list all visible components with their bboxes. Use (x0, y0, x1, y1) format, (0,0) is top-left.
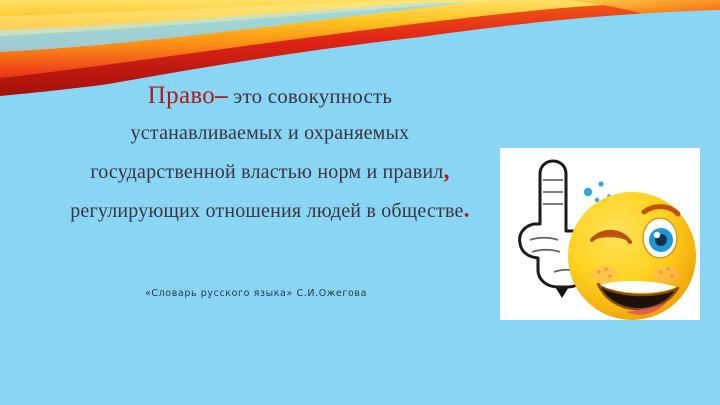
cheek-left (591, 266, 617, 282)
wave-sliver-light (0, 2, 470, 52)
definition-line-1-rest: это совокупность (233, 84, 392, 108)
smiley-clipart-svg (500, 148, 700, 320)
winking-smiley-pointing-finger-image (500, 148, 700, 320)
presentation-slide: Право– это совокупность устанавливаемых … (0, 0, 720, 405)
definition-line-4-period: . (464, 197, 470, 223)
cheek-right (653, 266, 679, 282)
wave-tail-right (560, 0, 720, 48)
definition-line-1: Право– это совокупность (0, 80, 540, 112)
open-eye-icon (643, 218, 677, 258)
definition-term: Право (148, 82, 215, 109)
definition-dash: – (215, 82, 228, 109)
definition-line-3-comma: , (443, 158, 449, 184)
wave-highlight-streak (0, 0, 500, 36)
definition-line-3-text: государственной властью норм и правил (90, 161, 443, 183)
definition-line-3: государственной властью норм и правил, (0, 156, 540, 187)
definition-line-4-text: регулирующих отношения людей в обществе (70, 200, 463, 222)
definition-line-2: устанавливаемых и охраняемых (0, 121, 540, 147)
definition-text-block: Право– это совокупность устанавливаемых … (0, 80, 540, 226)
definition-line-4: регулирующих отношения людей в обществе. (0, 195, 540, 226)
source-attribution: «Словарь русского языка» С.И.Ожегова (0, 288, 512, 299)
